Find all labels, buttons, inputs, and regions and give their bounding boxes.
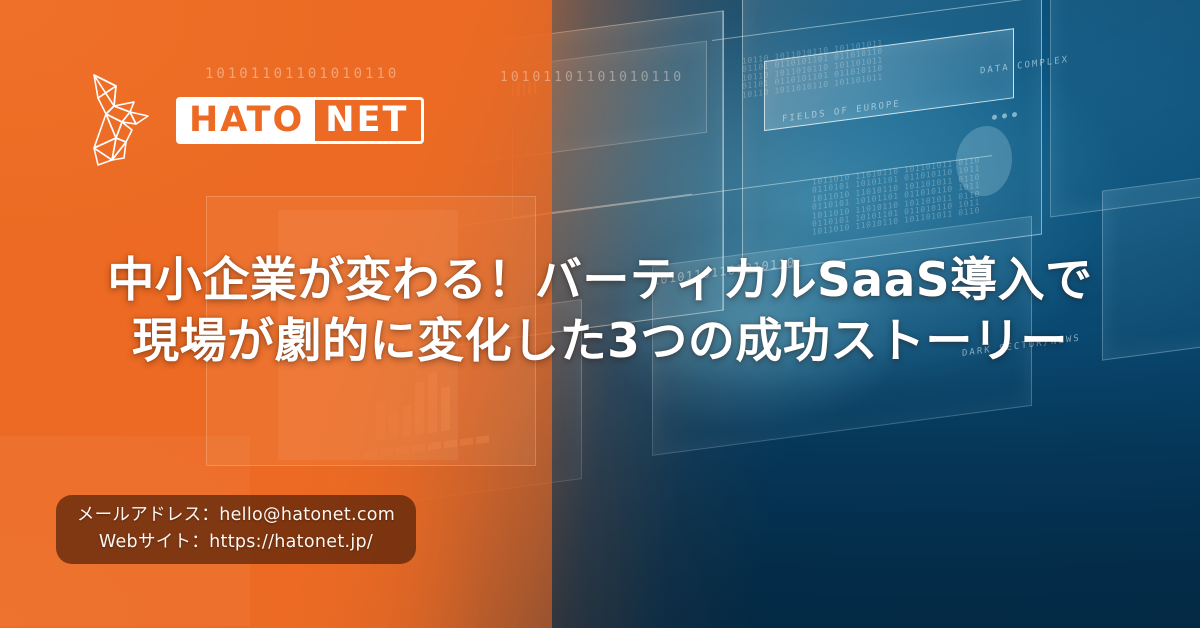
contact-box: メールアドレス：hello@hatonet.com Webサイト：https:/… bbox=[56, 495, 416, 564]
og-image-canvas: NEW BUSINESS WORKLOAD AUTOMATED DATA BUS… bbox=[0, 0, 1200, 628]
contact-website-row[interactable]: Webサイト：https://hatonet.jp/ bbox=[70, 529, 402, 556]
title-line-1: 中小企業が変わる！バーティカルSaaS導入で bbox=[56, 250, 1144, 311]
wordmark-net: NET bbox=[315, 97, 424, 144]
contact-email-row[interactable]: メールアドレス：hello@hatonet.com bbox=[70, 502, 402, 529]
page-title: 中小企業が変わる！バーティカルSaaS導入で 現場が劇的に変化した3つの成功スト… bbox=[0, 250, 1200, 372]
wordmark-hato: HATO bbox=[176, 97, 315, 144]
brand-logo[interactable]: HATO NET bbox=[86, 72, 424, 168]
binary-row-overlay-mid: 10101101101010110 bbox=[500, 70, 684, 85]
origami-dove-icon bbox=[86, 72, 160, 168]
title-line-2: 現場が劇的に変化した3つの成功ストーリー bbox=[56, 311, 1144, 372]
wordmark: HATO NET bbox=[176, 97, 424, 144]
